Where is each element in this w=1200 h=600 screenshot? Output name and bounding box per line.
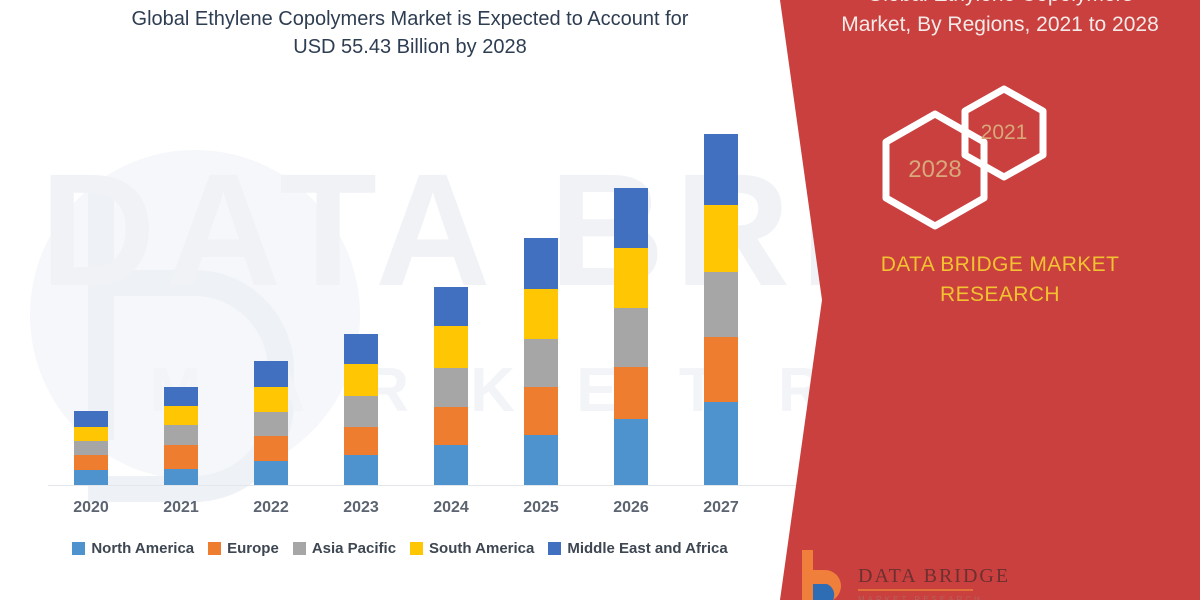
bar-group <box>0 0 820 485</box>
bar-segment <box>74 427 108 441</box>
company-logo-text: DATA BRIDGE <box>858 565 1010 588</box>
brand-name-line-2: RESEARCH <box>820 280 1180 310</box>
bar-column <box>164 387 198 485</box>
legend-item[interactable]: Asia Pacific <box>293 540 396 557</box>
legend-swatch-icon <box>72 542 85 555</box>
bar-segment <box>74 455 108 470</box>
panel-title: Global Ethylene Copolymers Market, By Re… <box>810 0 1190 40</box>
bar-segment <box>344 427 378 455</box>
bar-segment <box>614 367 648 419</box>
right-branding-panel: Global Ethylene Copolymers Market, By Re… <box>780 0 1200 600</box>
legend-swatch-icon <box>410 542 423 555</box>
legend-label: North America <box>91 540 194 557</box>
bar-segment <box>164 406 198 425</box>
x-axis-tick-label: 2022 <box>226 499 316 517</box>
legend-item[interactable]: North America <box>72 540 194 557</box>
bar-segment <box>704 402 738 485</box>
x-axis-line <box>48 485 800 486</box>
brand-name: DATA BRIDGE MARKET RESEARCH <box>820 250 1180 310</box>
bar-segment <box>344 364 378 396</box>
x-axis-tick-label: 2021 <box>136 499 226 517</box>
bar-segment <box>704 272 738 337</box>
bar-segment <box>74 411 108 427</box>
bar-column <box>434 287 468 485</box>
bar-column <box>344 334 378 485</box>
panel-title-line-1: Global Ethylene Copolymers <box>810 0 1190 10</box>
bar-segment <box>434 368 468 407</box>
bar-segment <box>74 441 108 455</box>
bar-segment <box>344 455 378 485</box>
bar-segment <box>524 238 558 289</box>
legend-item[interactable]: Europe <box>208 540 279 557</box>
chart-region: Global Ethylene Copolymers Market is Exp… <box>0 0 820 600</box>
bar-column <box>614 188 648 485</box>
bar-segment <box>164 425 198 445</box>
legend-item[interactable]: Middle East and Africa <box>548 540 727 557</box>
x-axis-tick-label: 2026 <box>586 499 676 517</box>
x-axis-tick-label: 2025 <box>496 499 586 517</box>
company-logo-subtext: MARKET RESEARCH <box>858 595 983 600</box>
bar-segment <box>254 461 288 485</box>
bar-segment <box>164 469 198 485</box>
bar-segment <box>74 470 108 485</box>
legend-label: Asia Pacific <box>312 540 396 557</box>
bar-segment <box>704 134 738 205</box>
x-axis-tick-label: 2024 <box>406 499 496 517</box>
bar-segment <box>254 387 288 412</box>
bar-segment <box>524 387 558 435</box>
chart-legend: North AmericaEuropeAsia PacificSouth Ame… <box>0 540 800 557</box>
bar-column <box>74 411 108 485</box>
bar-column <box>254 361 288 485</box>
x-axis-tick-label: 2027 <box>676 499 766 517</box>
bar-segment <box>254 436 288 461</box>
bar-segment <box>614 248 648 308</box>
hexagon-2021-label: 2021 <box>960 85 1048 181</box>
bar-segment <box>344 334 378 364</box>
bar-segment <box>434 326 468 368</box>
bar-segment <box>524 289 558 339</box>
bar-segment <box>614 308 648 367</box>
bar-segment <box>704 337 738 402</box>
brand-name-line-1: DATA BRIDGE MARKET <box>820 250 1180 280</box>
legend-swatch-icon <box>208 542 221 555</box>
legend-swatch-icon <box>548 542 561 555</box>
bar-segment <box>434 287 468 326</box>
bar-column <box>704 134 738 485</box>
legend-label: Middle East and Africa <box>567 540 727 557</box>
bar-segment <box>434 407 468 445</box>
bar-segment <box>164 387 198 406</box>
legend-swatch-icon <box>293 542 306 555</box>
company-logo-mark-icon <box>800 550 846 600</box>
bar-segment <box>524 435 558 485</box>
company-logo-rule <box>858 589 973 591</box>
legend-label: Europe <box>227 540 279 557</box>
bar-segment <box>254 361 288 387</box>
x-axis-tick-label: 2020 <box>46 499 136 517</box>
bar-segment <box>344 396 378 427</box>
bar-segment <box>704 205 738 272</box>
bar-segment <box>614 419 648 485</box>
legend-label: South America <box>429 540 534 557</box>
bar-segment <box>524 339 558 387</box>
panel-title-line-2: Market, By Regions, 2021 to 2028 <box>810 10 1190 40</box>
company-logo: DATA BRIDGE MARKET RESEARCH <box>800 546 1050 600</box>
legend-item[interactable]: South America <box>410 540 534 557</box>
bar-segment <box>164 445 198 469</box>
bar-segment <box>434 445 468 485</box>
hexagon-group: 2028 2021 <box>875 85 1105 225</box>
x-axis-tick-label: 2023 <box>316 499 406 517</box>
bar-segment <box>614 188 648 248</box>
bar-column <box>524 238 558 485</box>
bar-segment <box>254 412 288 436</box>
x-axis-labels: 20202021202220232024202520262027 <box>0 499 820 525</box>
